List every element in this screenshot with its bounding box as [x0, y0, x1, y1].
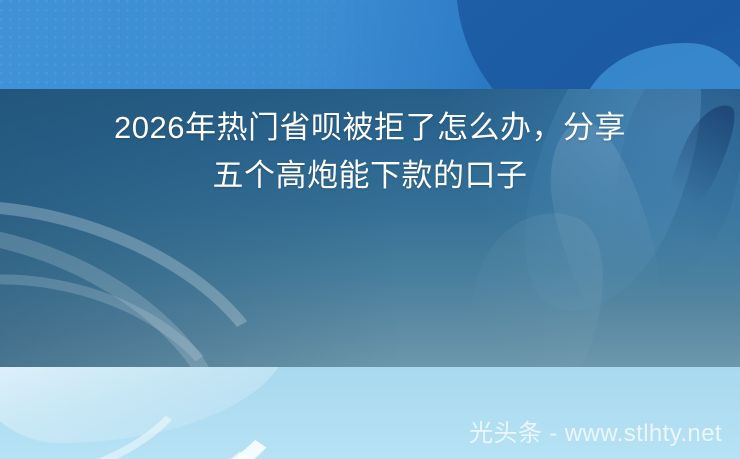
site-watermark: 光头条 - www.stlhty.net — [469, 419, 722, 449]
article-cover-banner: 2026年热门省呗被拒了怎么办，分享 五个高炮能下款的口子 光头条 - www.… — [0, 0, 740, 459]
dot-grid-pattern — [0, 0, 460, 89]
top-color-band — [0, 0, 740, 89]
cover-title: 2026年热门省呗被拒了怎么办，分享 五个高炮能下款的口子 — [0, 104, 740, 200]
